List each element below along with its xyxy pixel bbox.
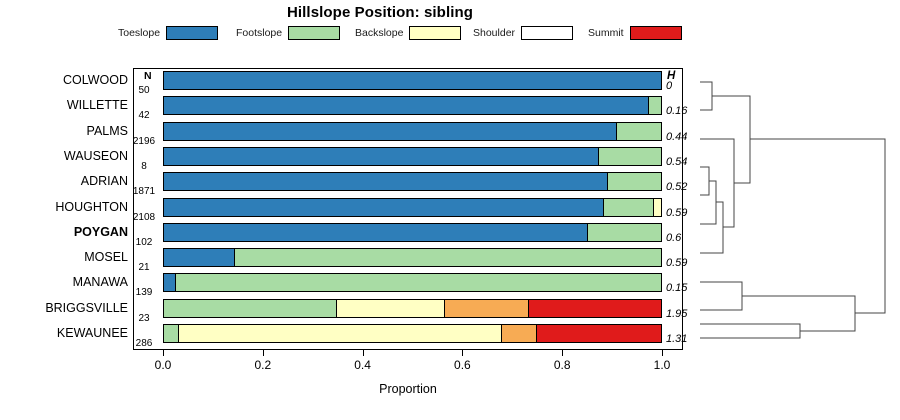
series-label-manawa: MANAWA [0,274,128,290]
legend-swatch [288,26,340,40]
bar-segment-footslope [608,173,661,190]
n-value: 102 [124,237,164,248]
axis-tick [562,350,563,356]
n-value: 2196 [124,136,164,147]
bar-segment-toeslope [164,97,649,114]
bar-segment-backslope [179,325,502,342]
axis-tick [662,350,663,356]
n-value: 50 [124,85,164,96]
axis-tick-label: 1.0 [642,358,682,372]
legend-swatch [409,26,461,40]
legend-swatch [521,26,573,40]
stacked-bar [163,147,662,166]
bar-segment-toeslope [164,72,661,89]
legend-swatch [630,26,682,40]
stacked-bar [163,273,662,292]
bar-segment-footslope [164,300,337,317]
bar-segment-backslope [654,199,661,216]
stacked-bar [163,122,662,141]
bar-segment-footslope [649,97,661,114]
n-value: 139 [124,287,164,298]
bar-segment-toeslope [164,274,176,291]
bar-segment-toeslope [164,199,604,216]
stacked-bar [163,299,662,318]
axis-tick [462,350,463,356]
bar-segment-footslope [164,325,179,342]
axis-tick-label: 0.8 [542,358,582,372]
legend-item-toeslope: Toeslope [118,23,218,42]
bar-segment-backslope [337,300,445,317]
series-label-briggsville: BRIGGSVILLE [0,300,128,316]
page-title: Hillslope Position: sibling [0,4,760,21]
bar-segment-footslope [599,148,661,165]
legend-item-footslope: Footslope [236,23,340,42]
legend-label: Footslope [236,27,282,39]
bar-segment-toeslope [164,173,608,190]
bar-segment-shoulder [445,300,529,317]
series-label-palms: PALMS [0,123,128,139]
axis-tick-label: 0.0 [143,358,183,372]
n-value: 8 [124,161,164,172]
n-value: 23 [124,313,164,324]
axis-tick [163,350,164,356]
bar-segment-footslope [604,199,653,216]
series-label-mosel: MOSEL [0,249,128,265]
bar-segment-footslope [176,274,661,291]
bar-segment-footslope [617,123,661,140]
axis-tick-label: 0.4 [343,358,383,372]
stacked-bar [163,223,662,242]
stacked-bar [163,248,662,267]
x-axis: 0.00.20.40.60.81.0 [133,350,683,380]
legend-label: Shoulder [473,27,515,39]
bar-segment-toeslope [164,224,588,241]
stacked-bar [163,96,662,115]
n-value: 286 [124,338,164,349]
legend-swatch [166,26,218,40]
dendrogram [690,60,895,360]
n-value: 2108 [124,212,164,223]
legend-item-summit: Summit [588,23,682,42]
x-axis-label: Proportion [133,382,683,396]
bar-segment-toeslope [164,148,599,165]
series-label-wauseon: WAUSEON [0,148,128,164]
legend-item-shoulder: Shoulder [473,23,573,42]
series-label-poygan: POYGAN [0,224,128,240]
legend: ToeslopeFootslopeBackslopeShoulderSummit [118,23,718,42]
legend-item-backslope: Backslope [355,23,461,42]
stacked-bar [163,324,662,343]
n-value: 1871 [124,186,164,197]
series-label-adrian: ADRIAN [0,173,128,189]
axis-tick-label: 0.2 [243,358,283,372]
series-label-colwood: COLWOOD [0,72,128,88]
legend-label: Summit [588,27,624,39]
axis-tick-label: 0.6 [442,358,482,372]
stacked-bar [163,198,662,217]
stacked-bar [163,172,662,191]
n-value: 21 [124,262,164,273]
bar-segment-toeslope [164,249,235,266]
series-label-kewaunee: KEWAUNEE [0,325,128,341]
bar-segment-footslope [588,224,661,241]
stacked-bar [163,71,662,90]
bar-segment-summit [537,325,661,342]
legend-label: Toeslope [118,27,160,39]
series-label-houghton: HOUGHTON [0,199,128,215]
n-value: 42 [124,110,164,121]
n-column-header: N [144,70,152,82]
axis-tick [363,350,364,356]
bar-segment-summit [529,300,661,317]
axis-tick [263,350,264,356]
bar-segment-footslope [235,249,661,266]
bar-segment-shoulder [502,325,537,342]
bar-segment-toeslope [164,123,617,140]
series-label-willette: WILLETTE [0,97,128,113]
dendrogram-svg [690,60,895,360]
legend-label: Backslope [355,27,403,39]
